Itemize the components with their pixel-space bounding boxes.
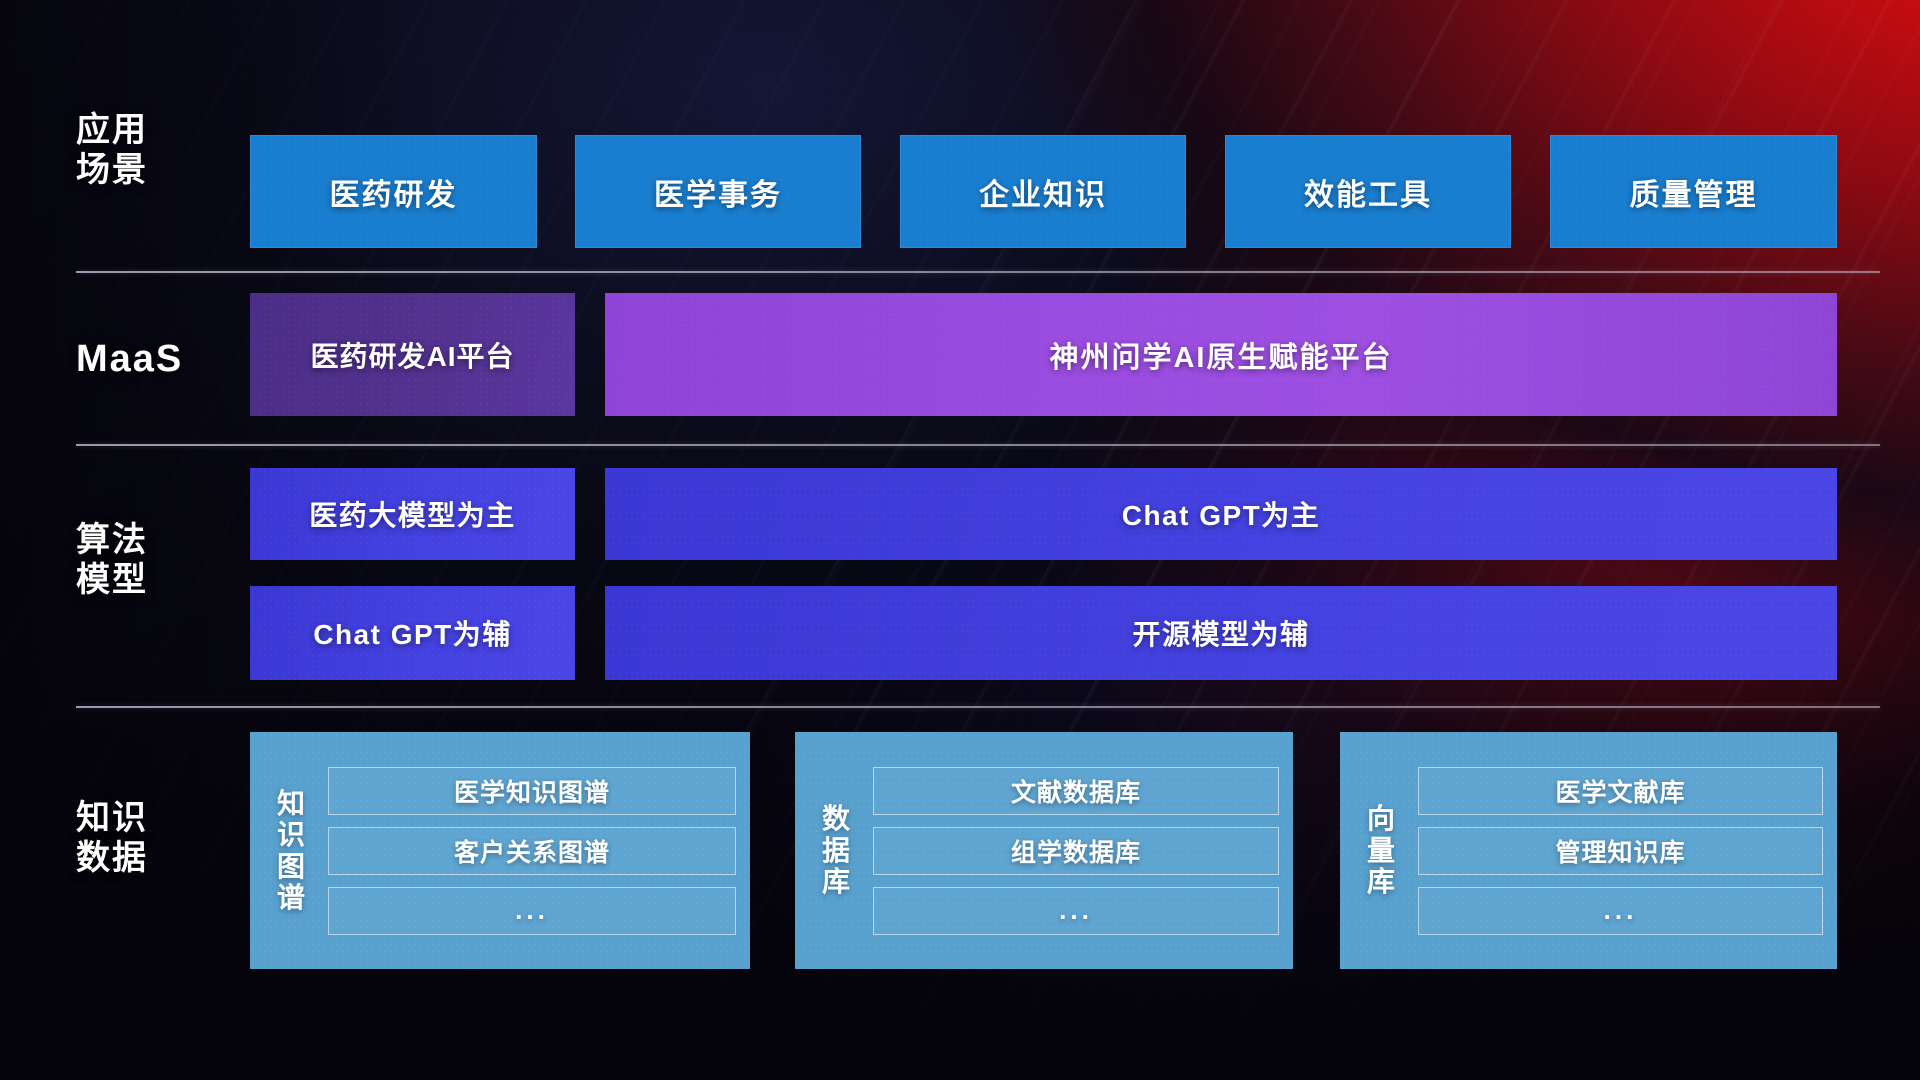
row-label-line: 算法	[76, 520, 236, 560]
title-char: 量	[1367, 835, 1395, 866]
row-label-knowledge-data: 知识 数据	[76, 798, 236, 878]
title-char: 图	[277, 851, 305, 882]
knowledge-group-knowledge-graph[interactable]: 知 识 图 谱 医学知识图谱 客户关系图谱 ...	[250, 732, 750, 969]
row-label-algorithm-model: 算法 模型	[76, 520, 236, 600]
row-label-line: 应用	[76, 110, 236, 150]
row-label-line: 模型	[76, 560, 236, 600]
app-scenario-card-4[interactable]: 效能工具	[1225, 135, 1511, 248]
title-char: 识	[277, 819, 305, 850]
knowledge-group-items: 医学文献库 管理知识库 ...	[1418, 742, 1823, 959]
title-char: 向	[1367, 803, 1395, 834]
knowledge-item[interactable]: 组学数据库	[873, 827, 1279, 875]
maas-card-drug-rd-platform[interactable]: 医药研发AI平台	[250, 293, 575, 416]
row-label-line: MaaS	[76, 337, 236, 382]
app-scenario-card-3[interactable]: 企业知识	[900, 135, 1186, 248]
knowledge-group-vector-store[interactable]: 向 量 库 医学文献库 管理知识库 ...	[1340, 732, 1837, 969]
row-label-line: 数据	[76, 838, 236, 878]
app-scenario-card-1[interactable]: 医药研发	[250, 135, 537, 248]
knowledge-item[interactable]: 医学知识图谱	[328, 767, 736, 815]
app-scenario-card-2[interactable]: 医学事务	[575, 135, 861, 248]
knowledge-item[interactable]: 医学文献库	[1418, 767, 1823, 815]
row-label-maas: MaaS	[76, 337, 236, 382]
knowledge-group-database[interactable]: 数 据 库 文献数据库 组学数据库 ...	[795, 732, 1293, 969]
knowledge-group-title: 知 识 图 谱	[268, 788, 314, 913]
knowledge-group-items: 医学知识图谱 客户关系图谱 ...	[328, 742, 736, 959]
app-scenario-card-5[interactable]: 质量管理	[1550, 135, 1837, 248]
row-divider-2	[76, 444, 1880, 446]
knowledge-item[interactable]: 客户关系图谱	[328, 827, 736, 875]
title-char: 知	[277, 788, 305, 819]
row-divider-3	[76, 706, 1880, 708]
knowledge-item-more[interactable]: ...	[328, 887, 736, 935]
title-char: 谱	[277, 882, 305, 913]
algorithm-card-right-primary[interactable]: Chat GPT为主	[605, 468, 1837, 560]
knowledge-group-title: 数 据 库	[813, 803, 859, 897]
architecture-diagram-canvas: 应用 场景 医药研发 医学事务 企业知识 效能工具 质量管理 MaaS 医药研发…	[0, 0, 1920, 1080]
title-char: 库	[1367, 866, 1395, 897]
row-label-application-scenario: 应用 场景	[76, 110, 236, 190]
knowledge-item-more[interactable]: ...	[873, 887, 1279, 935]
knowledge-group-title: 向 量 库	[1358, 803, 1404, 897]
knowledge-item[interactable]: 管理知识库	[1418, 827, 1823, 875]
row-label-line: 知识	[76, 798, 236, 838]
algorithm-card-right-secondary[interactable]: 开源模型为辅	[605, 586, 1837, 680]
maas-card-shenzhou-platform[interactable]: 神州问学AI原生赋能平台	[605, 293, 1837, 416]
knowledge-group-items: 文献数据库 组学数据库 ...	[873, 742, 1279, 959]
row-label-line: 场景	[76, 150, 236, 190]
algorithm-card-left-secondary[interactable]: Chat GPT为辅	[250, 586, 575, 680]
knowledge-item[interactable]: 文献数据库	[873, 767, 1279, 815]
knowledge-item-more[interactable]: ...	[1418, 887, 1823, 935]
row-divider-1	[76, 271, 1880, 273]
title-char: 库	[822, 866, 850, 897]
title-char: 据	[822, 835, 850, 866]
algorithm-card-left-primary[interactable]: 医药大模型为主	[250, 468, 575, 560]
title-char: 数	[822, 803, 850, 834]
